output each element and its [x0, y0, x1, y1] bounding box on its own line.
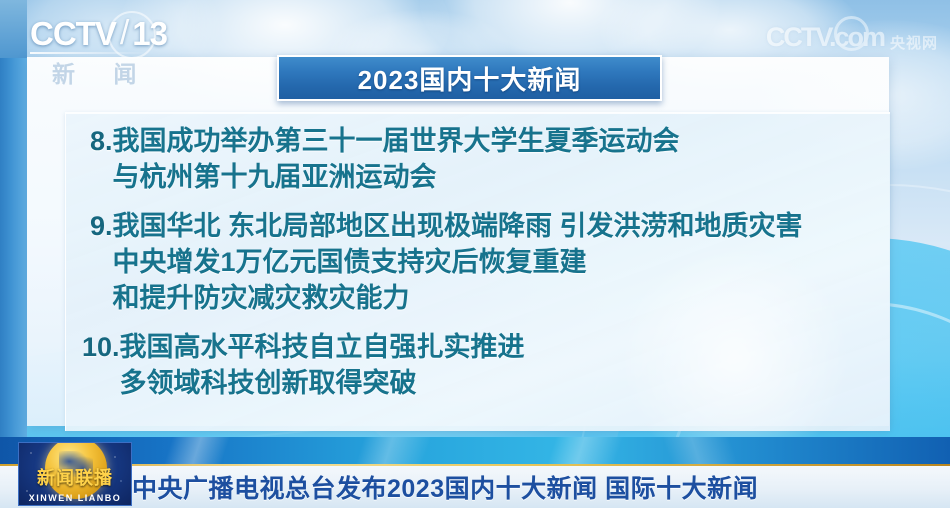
ticker-blue-band	[0, 437, 950, 464]
left-accent-bar-top	[0, 0, 27, 58]
list-item-number: 9.	[90, 208, 113, 244]
cctv-com-circle-icon	[834, 16, 869, 51]
list-item: 9. 我国华北 东北局部地区出现极端降雨 引发洪涝和地质灾害 中央增发1万亿元国…	[82, 208, 872, 316]
logo-cn-label: 新闻联播	[19, 464, 131, 490]
bottom-ticker: 新闻联播 XINWEN LIANBO 中央广播电视总台发布2023国内十大新闻 …	[0, 437, 950, 508]
cctv-com-cn-label: 央视网	[890, 32, 938, 53]
xinwen-lianbo-logo: 新闻联播 XINWEN LIANBO	[18, 442, 132, 506]
list-item-body: 我国高水平科技自立自强扎实推进 多领域科技创新取得突破	[120, 329, 872, 401]
list-item-line: 中央增发1万亿元国债支持灾后恢复重建	[113, 244, 872, 280]
page-title: 2023国内十大新闻	[358, 60, 582, 97]
list-item-line: 我国成功举办第三十一届世界大学生夏季运动会	[113, 123, 872, 159]
list-item-line: 和提升防灾减灾救灾能力	[113, 280, 872, 316]
list-item-line: 我国高水平科技自立自强扎实推进	[120, 329, 872, 365]
left-accent-bar	[0, 0, 27, 440]
cctv-logo-underline	[30, 52, 150, 54]
logo-en-label: XINWEN LIANBO	[19, 493, 131, 503]
list-item: 10. 我国高水平科技自立自强扎实推进 多领域科技创新取得突破	[82, 329, 872, 401]
list-item-body: 我国成功举办第三十一届世界大学生夏季运动会 与杭州第十九届亚洲运动会	[113, 123, 872, 195]
list-item-body: 我国华北 东北局部地区出现极端降雨 引发洪涝和地质灾害 中央增发1万亿元国债支持…	[113, 208, 872, 316]
ticker-headline: 中央广播电视总台发布2023国内十大新闻 国际十大新闻	[132, 466, 942, 508]
cctv13-logo: CCTV / 13	[30, 14, 167, 53]
channel-watermark-label: 新 闻	[52, 55, 152, 89]
cctv-com-watermark: CCTV.com 央视网	[766, 22, 938, 53]
list-item-line: 与杭州第十九届亚洲运动会	[113, 159, 872, 195]
list-item-number: 10.	[82, 329, 120, 365]
list-item-line: 我国华北 东北局部地区出现极端降雨 引发洪涝和地质灾害	[113, 208, 872, 244]
news-list: 8. 我国成功举办第三十一届世界大学生夏季运动会 与杭州第十九届亚洲运动会 9.…	[82, 123, 872, 414]
cctv-logo-text: CCTV	[30, 15, 116, 53]
list-item: 8. 我国成功举办第三十一届世界大学生夏季运动会 与杭州第十九届亚洲运动会	[82, 123, 872, 195]
broadcast-frame: CCTV / 13 新 闻 CCTV.com 央视网 2023国内十大新闻 8.…	[0, 0, 950, 508]
list-item-line: 多领域科技创新取得突破	[120, 365, 872, 401]
list-item-number: 8.	[90, 123, 113, 159]
page-title-banner: 2023国内十大新闻	[277, 55, 662, 101]
